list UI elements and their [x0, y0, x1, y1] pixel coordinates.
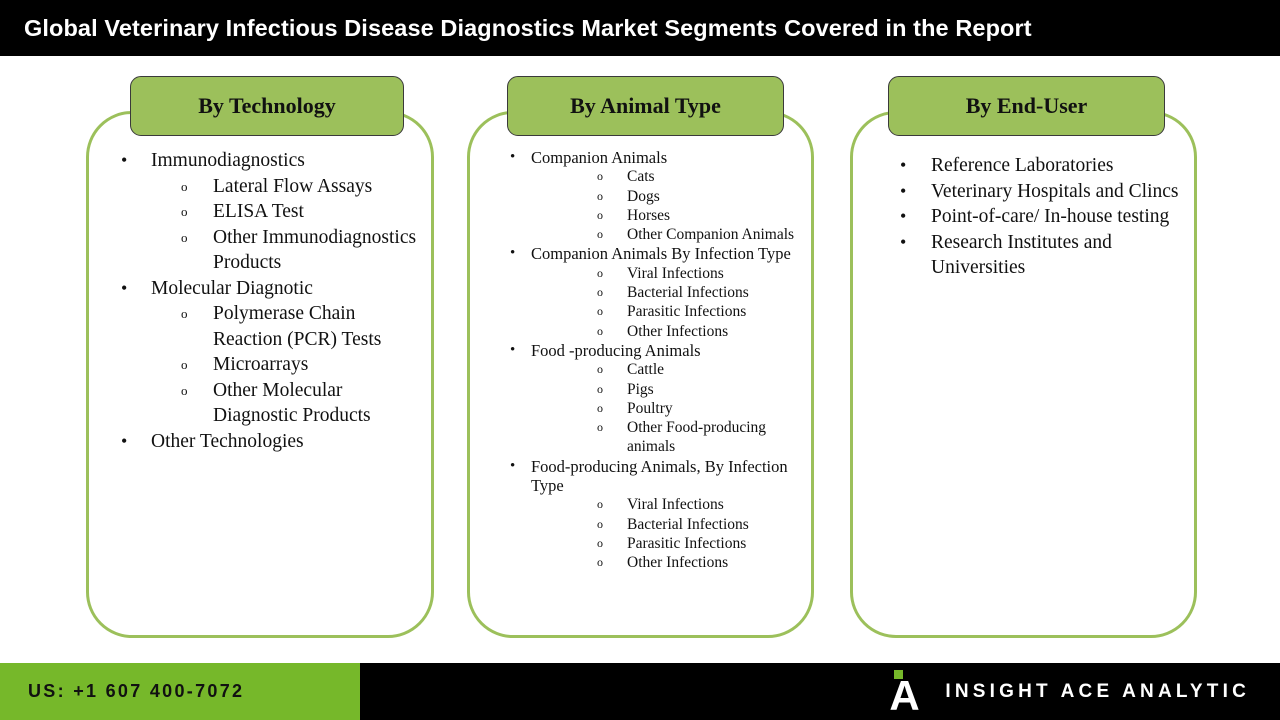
list-item: o Viral Infections: [531, 264, 801, 283]
segment-card-end-user: By End-User • Reference Laboratories • V…: [850, 111, 1197, 638]
list-item-label: Companion Animals: [531, 148, 667, 167]
segment-list-end-user: • Reference Laboratories • Veterinary Ho…: [867, 153, 1184, 281]
bullet-circle-icon: o: [597, 515, 603, 534]
list-item: • Research Institutes and Universities: [867, 230, 1184, 281]
sublist: o Lateral Flow Assays o ELISA Test o Oth…: [151, 174, 421, 276]
segment-list-animal-type: • Companion Animals o Cats o Dogs o: [484, 148, 801, 573]
segment-list-technology: • Immunodiagnostics o Lateral Flow Assay…: [103, 148, 421, 454]
bullet-circle-icon: o: [181, 225, 188, 251]
list-item: o Cattle: [531, 360, 801, 379]
list-item-label: Other Infections: [627, 554, 728, 571]
bullet-dot-icon: •: [121, 429, 127, 455]
bullet-circle-icon: o: [597, 399, 603, 418]
list-item: • Other Technologies: [103, 429, 421, 455]
bullet-dot-icon: •: [900, 204, 906, 230]
sublist: o Viral Infections o Bacterial Infection…: [531, 264, 801, 341]
bullet-dot-icon: •: [900, 230, 906, 256]
list-item: o Bacterial Infections: [531, 515, 801, 534]
list-item: o Horses: [531, 206, 801, 225]
list-item: o Other Food-producing animals: [531, 418, 801, 457]
bullet-circle-icon: o: [597, 360, 603, 379]
list-item: • Food-producing Animals, By Infection T…: [484, 457, 801, 573]
segment-card-animal-type: By Animal Type • Companion Animals o Cat…: [467, 111, 814, 638]
segment-header-label: By Animal Type: [570, 93, 721, 119]
bullet-circle-icon: o: [597, 380, 603, 399]
bullet-circle-icon: o: [597, 322, 603, 341]
list-item-label: Veterinary Hospitals and Clincs: [931, 181, 1179, 202]
list-item-label: Other Technologies: [151, 431, 304, 452]
bullet-circle-icon: o: [597, 418, 603, 437]
list-item-label: Bacterial Infections: [627, 284, 749, 301]
list-item-label: Dogs: [627, 188, 660, 205]
list-item-label: Viral Infections: [627, 265, 724, 282]
bullet-dot-icon: •: [900, 179, 906, 205]
list-item: • Companion Animals By Infection Type o …: [484, 244, 801, 340]
list-item-label: Parasitic Infections: [627, 303, 746, 320]
list-item-label: Other Immunodiagnostics Products: [213, 227, 416, 274]
list-item: o Microarrays: [151, 352, 421, 378]
list-item-label: Other Food-producing animals: [627, 419, 766, 455]
bullet-circle-icon: o: [597, 187, 603, 206]
list-item: o Other Infections: [531, 553, 801, 572]
segment-header-label: By Technology: [198, 93, 336, 119]
segment-header-technology: By Technology: [130, 76, 404, 136]
bullet-circle-icon: o: [181, 174, 188, 200]
footer-bar: US: +1 607 400-7072 A INSIGHT ACE ANALYT…: [0, 663, 1280, 720]
bullet-circle-icon: o: [597, 495, 603, 514]
list-item-label: Food -producing Animals: [531, 341, 701, 360]
list-item: o Polymerase Chain Reaction (PCR) Tests: [151, 301, 421, 352]
list-item: • Food -producing Animals o Cattle o Pig…: [484, 341, 801, 457]
list-item: o Other Infections: [531, 322, 801, 341]
list-item-label: Molecular Diagnotic: [151, 278, 313, 299]
bullet-circle-icon: o: [597, 302, 603, 321]
brand-name: INSIGHT ACE ANALYTIC: [945, 681, 1250, 703]
list-item: o Cats: [531, 167, 801, 186]
bullet-circle-icon: o: [181, 378, 188, 404]
segment-header-animal-type: By Animal Type: [507, 76, 784, 136]
logo-letter: A: [889, 678, 923, 714]
list-item: • Molecular Diagnotic o Polymerase Chain…: [103, 276, 421, 429]
list-item-label: Pigs: [627, 381, 654, 398]
list-item-label: Point-of-care/ In-house testing: [931, 206, 1169, 227]
list-item-label: Other Companion Animals: [627, 226, 794, 243]
bullet-circle-icon: o: [597, 167, 603, 186]
brand-lockup: A INSIGHT ACE ANALYTIC: [889, 663, 1250, 720]
segment-header-label: By End-User: [966, 93, 1088, 119]
bullet-dot-icon: •: [900, 153, 906, 179]
bullet-dot-icon: •: [510, 148, 515, 167]
bullet-circle-icon: o: [597, 283, 603, 302]
bullet-dot-icon: •: [121, 148, 127, 174]
bullet-dot-icon: •: [510, 244, 515, 263]
list-item-label: Research Institutes and Universities: [931, 232, 1112, 279]
sublist: o Cattle o Pigs o Poultry o: [531, 360, 801, 456]
list-item: o Bacterial Infections: [531, 283, 801, 302]
sublist: o Polymerase Chain Reaction (PCR) Tests …: [151, 301, 421, 429]
bullet-circle-icon: o: [597, 553, 603, 572]
diagram-stage: By Technology • Immunodiagnostics o Late…: [0, 56, 1280, 663]
list-item: o Parasitic Infections: [531, 534, 801, 553]
list-item-label: Other Infections: [627, 323, 728, 340]
sublist: o Viral Infections o Bacterial Infection…: [531, 495, 801, 572]
segment-header-end-user: By End-User: [888, 76, 1165, 136]
list-item-label: Poultry: [627, 400, 673, 417]
list-item-label: Reference Laboratories: [931, 155, 1113, 176]
bullet-circle-icon: o: [597, 225, 603, 244]
list-item-label: Cattle: [627, 361, 664, 378]
bullet-dot-icon: •: [510, 457, 515, 476]
list-item: • Point-of-care/ In-house testing: [867, 204, 1184, 230]
bullet-circle-icon: o: [597, 264, 603, 283]
page-title: Global Veterinary Infectious Disease Dia…: [0, 15, 1032, 42]
list-item: o Other Molecular Diagnostic Products: [151, 378, 421, 429]
list-item-label: Companion Animals By Infection Type: [531, 244, 791, 263]
list-item: • Companion Animals o Cats o Dogs o: [484, 148, 801, 244]
list-item-label: Parasitic Infections: [627, 535, 746, 552]
list-item: o Pigs: [531, 380, 801, 399]
list-item-label: ELISA Test: [213, 201, 304, 222]
list-item-label: Lateral Flow Assays: [213, 176, 372, 197]
bullet-dot-icon: •: [510, 341, 515, 360]
list-item-label: Immunodiagnostics: [151, 150, 305, 171]
footer-phone-block: US: +1 607 400-7072: [0, 663, 360, 720]
list-item: o Dogs: [531, 187, 801, 206]
list-item-label: Horses: [627, 207, 670, 224]
list-item-label: Cats: [627, 168, 655, 185]
footer-phone-number: US: +1 607 400-7072: [0, 681, 244, 702]
list-item-label: Viral Infections: [627, 496, 724, 513]
list-item: o Other Companion Animals: [531, 225, 801, 244]
bullet-dot-icon: •: [121, 276, 127, 302]
segment-card-technology: By Technology • Immunodiagnostics o Late…: [86, 111, 434, 638]
bullet-circle-icon: o: [181, 199, 188, 225]
list-item-label: Other Molecular Diagnostic Products: [213, 380, 371, 427]
segment-body-technology: • Immunodiagnostics o Lateral Flow Assay…: [89, 148, 431, 454]
sublist: o Cats o Dogs o Horses o: [531, 167, 801, 244]
list-item: o Other Immunodiagnostics Products: [151, 225, 421, 276]
list-item-label: Bacterial Infections: [627, 516, 749, 533]
list-item: o Poultry: [531, 399, 801, 418]
bullet-circle-icon: o: [181, 301, 188, 327]
list-item-label: Polymerase Chain Reaction (PCR) Tests: [213, 303, 381, 350]
bullet-circle-icon: o: [597, 534, 603, 553]
list-item-label: Microarrays: [213, 354, 308, 375]
bullet-circle-icon: o: [597, 206, 603, 225]
title-bar: Global Veterinary Infectious Disease Dia…: [0, 0, 1280, 56]
list-item: o Lateral Flow Assays: [151, 174, 421, 200]
list-item: o Viral Infections: [531, 495, 801, 514]
bullet-circle-icon: o: [181, 352, 188, 378]
list-item: • Immunodiagnostics o Lateral Flow Assay…: [103, 148, 421, 276]
insightace-logo-icon: A: [889, 670, 923, 714]
list-item: o ELISA Test: [151, 199, 421, 225]
list-item: • Veterinary Hospitals and Clincs: [867, 179, 1184, 205]
list-item: • Reference Laboratories: [867, 153, 1184, 179]
list-item: o Parasitic Infections: [531, 302, 801, 321]
list-item-label: Food-producing Animals, By Infection Typ…: [531, 457, 788, 495]
segment-body-animal-type: • Companion Animals o Cats o Dogs o: [470, 148, 811, 573]
segment-body-end-user: • Reference Laboratories • Veterinary Ho…: [853, 148, 1194, 281]
